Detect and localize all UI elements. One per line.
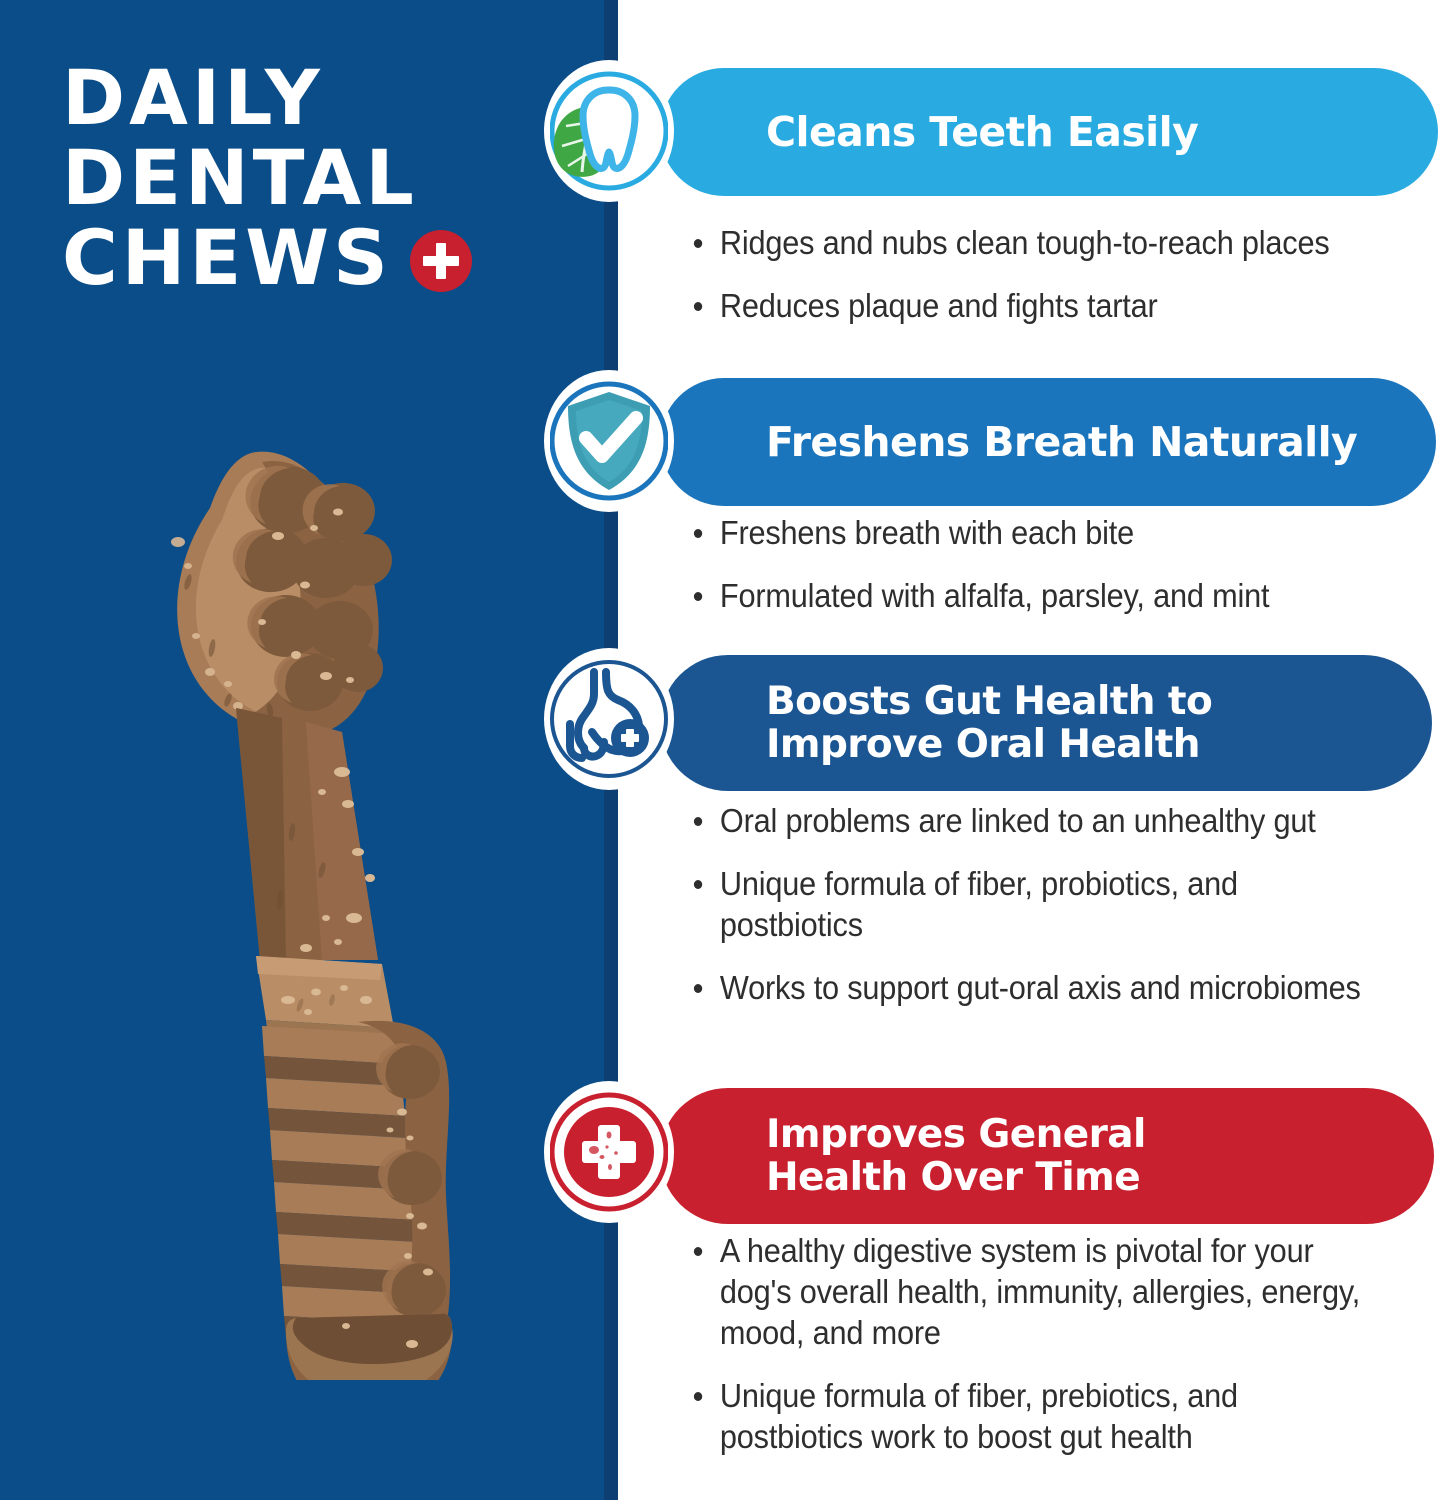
list-item: Ridges and nubs clean tough-to-reach pla… xyxy=(692,222,1395,263)
title-line-1: DAILY xyxy=(62,58,532,138)
list-item: Freshens breath with each bite xyxy=(692,512,1395,553)
list-item: A healthy digestive system is pivotal fo… xyxy=(692,1230,1380,1353)
list-item: Unique formula of fiber, probiotics, and… xyxy=(692,863,1371,945)
benefit-title-improves-general-health: Improves General Health Over Time xyxy=(660,1113,1170,1199)
benefit-bullets-boosts-gut-health: Oral problems are linked to an unhealthy… xyxy=(692,800,1422,1030)
benefit-banner-freshens-breath[interactable]: Freshens Breath Naturally xyxy=(660,378,1436,506)
benefit-title-line-2: Improve Oral Health xyxy=(766,723,1212,766)
list-item: Works to support gut-oral axis and micro… xyxy=(692,967,1371,1008)
list-item: Reduces plaque and fights tartar xyxy=(692,285,1395,326)
benefit-bullets-freshens-breath: Freshens breath with each bite Formulate… xyxy=(692,512,1444,638)
title-line-3: CHEWS xyxy=(62,218,392,298)
benefit-title-freshens-breath: Freshens Breath Naturally xyxy=(660,420,1381,465)
list-item: Oral problems are linked to an unhealthy… xyxy=(692,800,1371,841)
benefit-bullets-improves-general-health: A healthy digestive system is pivotal fo… xyxy=(692,1230,1432,1479)
medical-cross-icon xyxy=(410,230,472,292)
infographic-page: DAILY DENTAL CHEWS xyxy=(0,0,1444,1500)
page-title: DAILY DENTAL CHEWS xyxy=(62,58,532,298)
shield-check-icon xyxy=(544,370,674,512)
benefit-title-line-1: Improves General xyxy=(766,1113,1146,1156)
title-line-3-row: CHEWS xyxy=(62,218,532,298)
stomach-plus-icon xyxy=(544,648,674,790)
left-blue-panel: DAILY DENTAL CHEWS xyxy=(0,0,618,1500)
tooth-mint-icon xyxy=(544,60,674,202)
benefit-banner-cleans-teeth[interactable]: Cleans Teeth Easily xyxy=(660,68,1438,196)
title-line-2: DENTAL xyxy=(62,138,532,218)
list-item: Formulated with alfalfa, parsley, and mi… xyxy=(692,575,1395,616)
dental-chew-toy-illustration xyxy=(110,400,540,1380)
benefit-title-line-2: Health Over Time xyxy=(766,1156,1146,1199)
benefit-banner-boosts-gut-health[interactable]: Boosts Gut Health to Improve Oral Health xyxy=(660,655,1432,791)
medical-cross-circle-icon xyxy=(544,1081,674,1223)
benefit-title-boosts-gut-health: Boosts Gut Health to Improve Oral Health xyxy=(660,680,1236,766)
benefits-panel: Cleans Teeth Easily Ridges and nubs clea… xyxy=(618,0,1444,1500)
benefit-banner-improves-general-health[interactable]: Improves General Health Over Time xyxy=(660,1088,1434,1224)
benefit-title-cleans-teeth: Cleans Teeth Easily xyxy=(660,110,1222,155)
list-item: Unique formula of fiber, prebiotics, and… xyxy=(692,1375,1380,1457)
benefit-title-line-1: Boosts Gut Health to xyxy=(766,680,1212,723)
benefit-bullets-cleans-teeth: Ridges and nubs clean tough-to-reach pla… xyxy=(692,222,1444,348)
